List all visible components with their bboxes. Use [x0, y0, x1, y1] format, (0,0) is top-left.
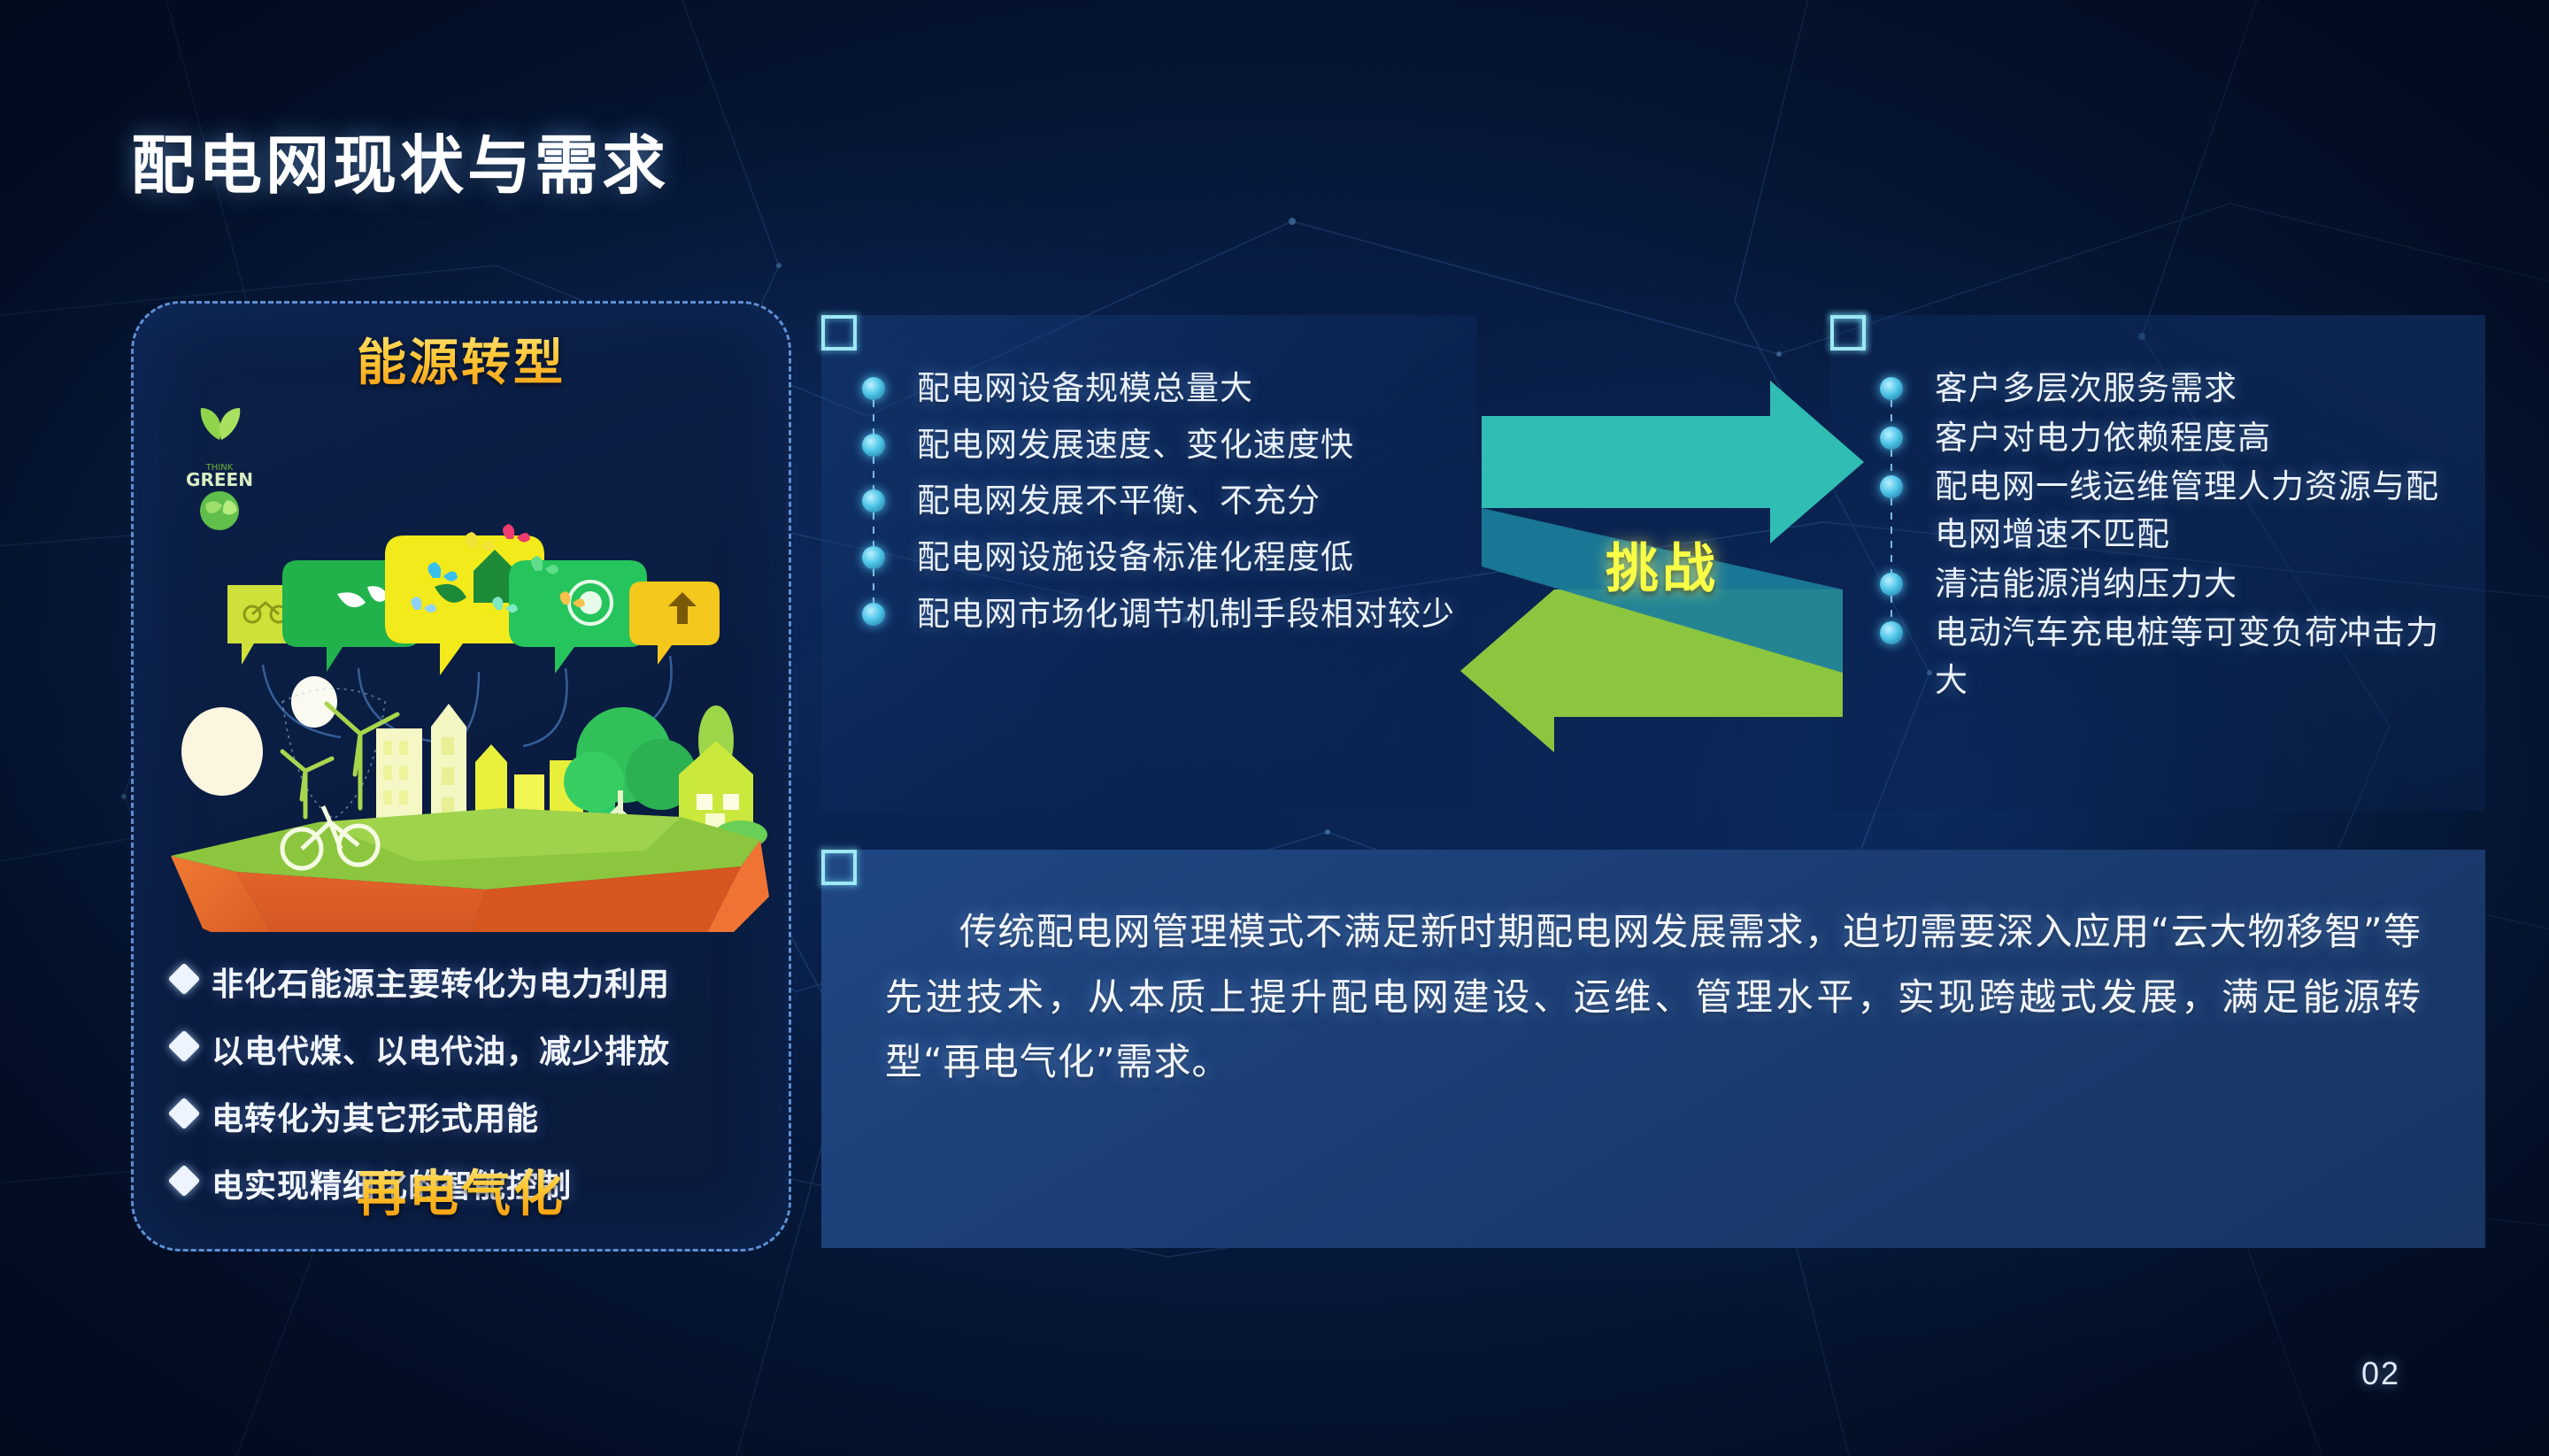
list-item: 客户多层次服务需求 [1880, 365, 2468, 412]
demand-item-list: 客户多层次服务需求 客户对电力依赖程度高 配电网一线运维管理人力资源与配电网增速… [1880, 365, 2468, 705]
energy-transformation-card: 能源转型 THINK GREEN [131, 301, 791, 1252]
diamond-bullet-icon [168, 1098, 201, 1130]
bullet-text: 以电代煤、以电代油，减少排放 [212, 1026, 670, 1072]
list-item: 以电代煤、以电代油，减少排放 [173, 1026, 771, 1072]
list-item-label: 配电网设施设备标准化程度低 [917, 534, 1459, 582]
customer-demand-panel: 客户多层次服务需求 客户对电力依赖程度高 配电网一线运维管理人力资源与配电网增速… [1830, 315, 2485, 811]
challenge-label: 挑战 [1459, 526, 1866, 603]
timeline-dot-icon [862, 377, 885, 400]
arrow-right-icon [1482, 381, 1864, 543]
current-status-panel: 配电网设备规模总量大 配电网发展速度、变化速度快 配电网发展不平衡、不充分 配电… [821, 315, 1476, 811]
corner-bracket-bottom-right-icon [821, 315, 857, 351]
status-item-list: 配电网设备规模总量大 配电网发展速度、变化速度快 配电网发展不平衡、不充分 配电… [862, 365, 1459, 646]
card-heading-energy-transformation: 能源转型 [134, 323, 789, 395]
bullet-text: 电转化为其它形式用能 [212, 1093, 539, 1139]
timeline-dot-icon [1880, 621, 1903, 644]
list-item-label: 客户对电力依赖程度高 [1935, 414, 2468, 462]
timeline-dot-icon [1880, 427, 1903, 450]
bullet-text: 非化石能源主要转化为电力利用 [212, 959, 670, 1005]
list-item-label: 配电网发展不平衡、不充分 [917, 477, 1459, 525]
list-item-label: 电动汽车充电桩等可变负荷冲击力大 [1935, 609, 2468, 704]
list-item: 配电网一线运维管理人力资源与配电网增速不匹配 [1880, 463, 2468, 558]
challenge-arrows-group: 挑战 [1459, 381, 1866, 752]
conclusion-panel: 传统配电网管理模式不满足新时期配电网发展需求，迫切需要深入应用“云大物移智”等先… [821, 850, 2485, 1248]
conclusion-text: 传统配电网管理模式不满足新时期配电网发展需求，迫切需要深入应用“云大物移智”等先… [885, 899, 2422, 1095]
page-number: 02 [2361, 1355, 2400, 1392]
floating-green-island-illustration [150, 436, 774, 932]
list-item: 非化石能源主要转化为电力利用 [173, 959, 771, 1005]
list-item-label: 清洁能源消纳压力大 [1935, 560, 2468, 608]
list-item: 电转化为其它形式用能 [173, 1093, 771, 1139]
list-item: 电动汽车充电桩等可变负荷冲击力大 [1880, 609, 2468, 704]
timeline-dot-icon [862, 546, 885, 569]
timeline-dot-icon [1880, 377, 1903, 400]
list-item: 配电网发展速度、变化速度快 [862, 421, 1459, 469]
diamond-bullet-icon [168, 963, 201, 996]
list-item-label: 配电网一线运维管理人力资源与配电网增速不匹配 [1935, 463, 2468, 558]
list-item: 配电网设备规模总量大 [862, 365, 1459, 412]
list-item: 清洁能源消纳压力大 [1880, 560, 2468, 608]
list-item-label: 配电网设备规模总量大 [917, 365, 1459, 412]
corner-bracket-bottom-right-icon [821, 850, 857, 885]
card-footer-re-electrification: 再电气化 [134, 1154, 789, 1226]
timeline-dot-icon [862, 489, 885, 512]
list-item: 配电网发展不平衡、不充分 [862, 477, 1459, 525]
timeline-dot-icon [1880, 573, 1903, 596]
timeline-dot-icon [862, 434, 885, 457]
corner-bracket-bottom-right-icon [1830, 315, 1866, 351]
list-item: 客户对电力依赖程度高 [1880, 414, 2468, 462]
list-item-label: 配电网发展速度、变化速度快 [917, 421, 1459, 469]
list-item: 配电网设施设备标准化程度低 [862, 534, 1459, 582]
list-item-label: 配电网市场化调节机制手段相对较少 [917, 590, 1459, 638]
page-title: 配电网现状与需求 [131, 113, 669, 206]
timeline-dot-icon [862, 603, 885, 626]
list-item-label: 客户多层次服务需求 [1935, 365, 2468, 412]
timeline-dot-icon [1880, 475, 1903, 498]
list-item: 配电网市场化调节机制手段相对较少 [862, 590, 1459, 638]
diamond-bullet-icon [168, 1030, 201, 1063]
